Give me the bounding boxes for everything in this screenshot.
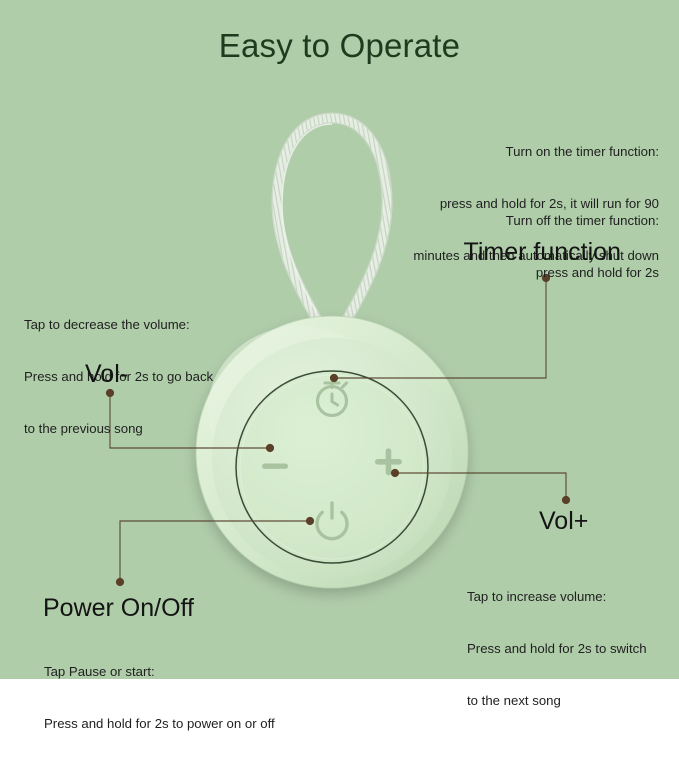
page-title: Easy to Operate — [0, 27, 679, 65]
callout-label-timer: Timer function — [321, 236, 621, 269]
vol-down-desc-line2: Press and hold for 2s to go back — [24, 368, 274, 385]
vol-up-desc-line3: to the next song — [467, 692, 679, 709]
power-description: Tap Pause or start: Press and hold for 2… — [44, 628, 334, 767]
callout-label-vol-up: Vol+ — [539, 505, 588, 538]
product-infographic: Easy to Operate Turn on the timer functi… — [0, 0, 679, 679]
vol-up-desc-line2: Press and hold for 2s to switch — [467, 640, 679, 657]
timer-off-note-line1: Turn off the timer function: — [327, 212, 659, 229]
vol-down-description: Tap to decrease the volume: Press and ho… — [24, 281, 274, 473]
power-desc-line2: Press and hold for 2s to power on or off — [44, 715, 334, 732]
vol-up-desc-line1: Tap to increase volume: — [467, 588, 679, 605]
timer-on-note-line1: Turn on the timer function: — [327, 143, 659, 160]
vol-down-desc-line1: Tap to decrease the volume: — [24, 316, 274, 333]
vol-down-desc-line3: to the previous song — [24, 420, 274, 437]
power-desc-line1: Tap Pause or start: — [44, 663, 334, 680]
vol-up-description: Tap to increase volume: Press and hold f… — [467, 553, 679, 745]
callout-label-vol-down: Vol- — [85, 358, 128, 391]
callout-label-power: Power On/Off — [43, 592, 194, 625]
